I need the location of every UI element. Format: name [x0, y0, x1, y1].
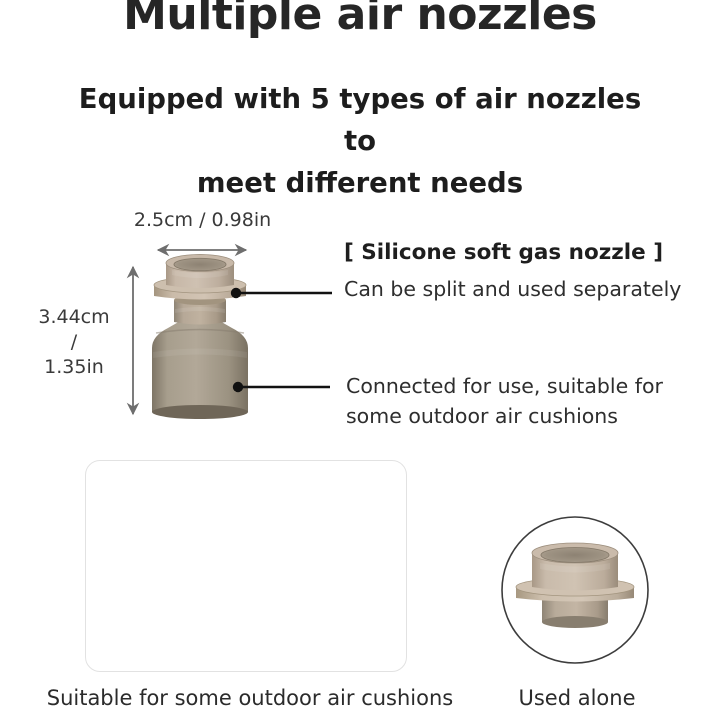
nozzle-annotation-top: Can be split and used separately	[344, 277, 681, 301]
height-dimension-label: 3.44cm / 1.35in	[24, 305, 124, 380]
page-title: Multiple air nozzles	[0, 0, 720, 44]
used-alone-circle-outline	[502, 517, 648, 663]
right-panel-caption: Used alone	[482, 686, 672, 710]
height-dimension-line-1: 3.44cm	[24, 305, 124, 330]
silicone-nozzle-illustration	[152, 254, 248, 419]
left-panel-caption: Suitable for some outdoor air cushions	[20, 686, 480, 710]
nozzle-annotation-bottom-line-2: some outdoor air cushions	[346, 401, 712, 431]
nozzle-annotation-bottom-line-1: Connected for use, suitable for	[346, 371, 712, 401]
nozzle-top-illustration	[516, 543, 634, 628]
leader-line-lower	[233, 382, 330, 392]
height-dimension-line-3: 1.35in	[24, 355, 124, 380]
infographic-root: Multiple air nozzles Equipped with 5 typ…	[0, 0, 720, 720]
outdoor-cushion-photo-frame	[85, 460, 407, 672]
leader-line-upper	[231, 288, 332, 298]
subtitle-line-1: Equipped with 5 types of air nozzles to	[60, 78, 660, 162]
width-dimension-label: 2.5cm / 0.98in	[130, 209, 275, 231]
nozzle-annotation-heading: [ Silicone soft gas nozzle ]	[344, 240, 663, 265]
nozzle-annotation-bottom: Connected for use, suitable for some out…	[346, 371, 712, 431]
page-subtitle: Equipped with 5 types of air nozzles to …	[60, 78, 660, 204]
subtitle-line-2: meet different needs	[60, 162, 660, 204]
height-dimension-line-2: /	[24, 330, 124, 355]
